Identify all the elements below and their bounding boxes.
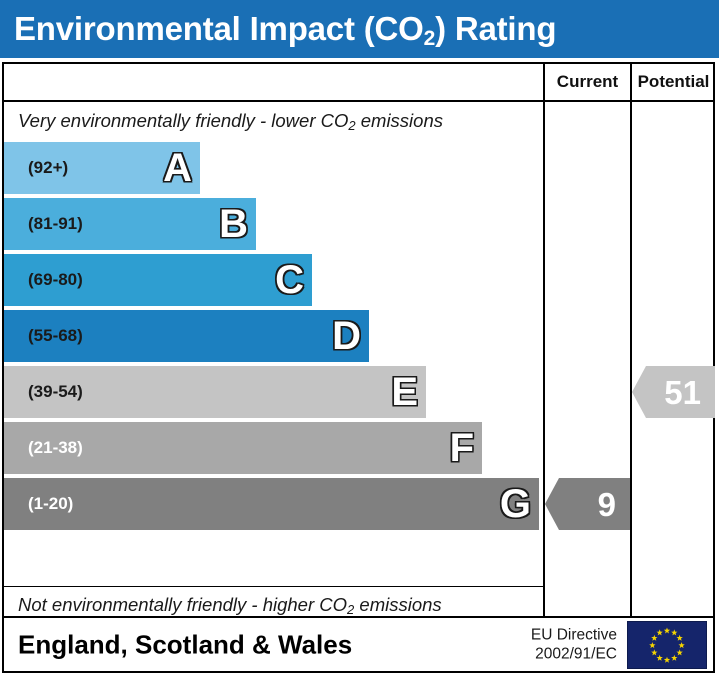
band-g: (1-20)G <box>4 478 539 530</box>
band-letter-g: G <box>500 484 531 524</box>
band-letter-d: D <box>332 316 361 356</box>
column-header-potential: Potential <box>632 64 715 100</box>
title-suffix: ) Rating <box>435 10 556 47</box>
eu-flag-icon <box>627 621 707 669</box>
band-range-b: (81-91) <box>28 214 83 234</box>
current-rating-marker: 9 <box>545 478 630 530</box>
title-prefix: Environmental Impact (CO <box>14 10 424 47</box>
footer-bar: England, Scotland & Wales EU Directive 2… <box>2 618 715 673</box>
potential-rating-value: 51 <box>664 376 701 409</box>
bottom-caption-divider <box>4 586 543 587</box>
column-header-current: Current <box>545 64 630 100</box>
band-e: (39-54)E <box>4 366 426 418</box>
caption-bottom-subscript: 2 <box>347 602 354 617</box>
page-title: Environmental Impact (CO2) Rating <box>14 10 556 48</box>
title-bar: Environmental Impact (CO2) Rating <box>0 0 719 58</box>
band-range-a: (92+) <box>28 158 68 178</box>
band-d: (55-68)D <box>4 310 369 362</box>
caption-top: Very environmentally friendly - lower CO… <box>18 110 538 132</box>
caption-top-prefix: Very environmentally friendly - lower CO <box>18 110 348 131</box>
current-rating-value: 9 <box>598 488 616 521</box>
band-range-c: (69-80) <box>28 270 83 290</box>
band-f: (21-38)F <box>4 422 482 474</box>
epc-environmental-impact-chart: Environmental Impact (CO2) Rating Curren… <box>0 0 719 675</box>
caption-bottom-prefix: Not environmentally friendly - higher CO <box>18 594 347 615</box>
band-letter-b: B <box>219 204 248 244</box>
band-range-e: (39-54) <box>28 382 83 402</box>
eu-flag-stars <box>628 622 706 669</box>
rating-table: Current Potential Very environmentally f… <box>2 62 715 618</box>
column-divider-current <box>543 64 545 616</box>
footer-directive-line1: EU Directive <box>531 625 617 644</box>
band-letter-e: E <box>391 372 418 412</box>
band-c: (69-80)C <box>4 254 312 306</box>
column-divider-potential <box>630 64 632 616</box>
caption-top-suffix: emissions <box>356 110 443 131</box>
band-letter-f: F <box>450 428 474 468</box>
band-letter-c: C <box>275 260 304 300</box>
band-b: (81-91)B <box>4 198 256 250</box>
title-subscript: 2 <box>424 27 435 50</box>
footer-directive: EU Directive 2002/91/EC <box>531 625 617 664</box>
band-a: (92+)A <box>4 142 200 194</box>
potential-rating-marker: 51 <box>632 366 715 418</box>
caption-top-subscript: 2 <box>348 118 355 133</box>
band-range-d: (55-68) <box>28 326 83 346</box>
footer-directive-line2: 2002/91/EC <box>531 645 617 664</box>
band-letter-a: A <box>163 148 192 188</box>
band-range-f: (21-38) <box>28 438 83 458</box>
caption-bottom-suffix: emissions <box>354 594 441 615</box>
band-range-g: (1-20) <box>28 494 73 514</box>
header-divider <box>4 100 713 102</box>
caption-bottom: Not environmentally friendly - higher CO… <box>18 594 538 616</box>
footer-region-label: England, Scotland & Wales <box>18 629 352 660</box>
